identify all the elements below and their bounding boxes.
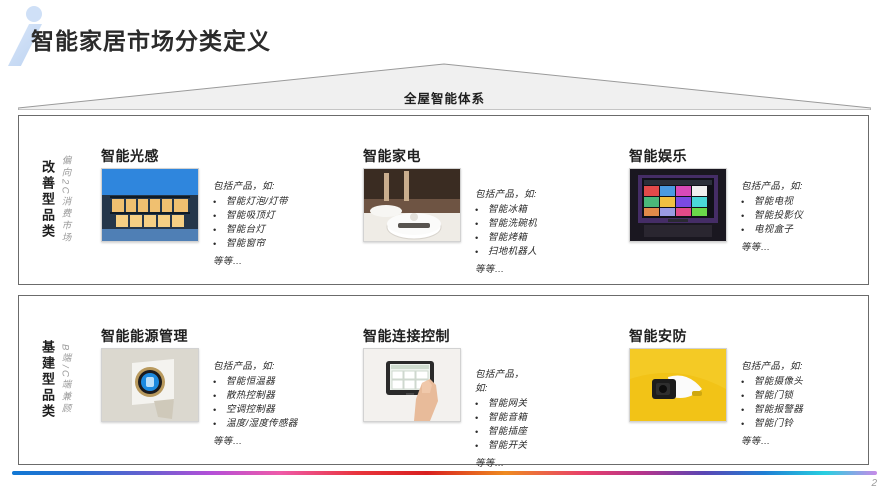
product-items: 智能灯泡/灯带 智能吸顶灯 智能台灯 智能窗帘 xyxy=(213,195,288,251)
section-label-main: 改善型品类 xyxy=(41,160,54,240)
list-item: 智能门铃 xyxy=(741,417,803,431)
list-item: 智能冰箱 xyxy=(475,203,537,217)
card-title: 智能光感 xyxy=(101,146,159,166)
card-title: 智能家电 xyxy=(363,146,421,166)
section-label-sub: 偏向2C消费市场 xyxy=(60,155,70,244)
card-product-list: 包括产品，如: 智能摄像头 智能门锁 智能报警器 智能门铃 等等… xyxy=(741,358,803,447)
product-list-lead: 包括产品，如: xyxy=(213,358,298,372)
list-item: 空调控制器 xyxy=(213,403,298,417)
product-list-lead: 包括产品，如: xyxy=(741,178,803,192)
card-product-list: 包括产品，如: 智能灯泡/灯带 智能吸顶灯 智能台灯 智能窗帘 等等… xyxy=(213,178,288,267)
smart-entertainment-photo xyxy=(629,168,727,242)
product-list-tail: 等等… xyxy=(213,433,298,447)
card-product-list: 包括产品，如: 智能冰箱 智能洗碗机 智能烤箱 扫地机器人 等等… xyxy=(475,186,537,275)
section-vertical-label-group: 基建型品类 B端/C端兼顾 xyxy=(41,296,70,464)
list-item: 智能恒温器 xyxy=(213,375,298,389)
list-item: 智能吸顶灯 xyxy=(213,209,288,223)
roof-banner-label: 全屋智能体系 xyxy=(18,88,871,107)
list-item: 电视盒子 xyxy=(741,223,803,237)
product-items: 智能恒温器 散热控制器 空调控制器 温度/湿度传感器 xyxy=(213,375,298,431)
product-list-tail: 等等… xyxy=(475,455,527,469)
list-item: 智能门锁 xyxy=(741,389,803,403)
product-items: 智能电视 智能投影仪 电视盒子 xyxy=(741,195,803,237)
product-list-lead: 包括产品，如: xyxy=(475,366,527,394)
list-item: 智能台灯 xyxy=(213,223,288,237)
card-title: 智能能源管理 xyxy=(101,326,188,346)
page-title: 智能家居市场分类定义 xyxy=(31,22,271,56)
list-item: 智能窗帘 xyxy=(213,237,288,251)
list-item: 智能电视 xyxy=(741,195,803,209)
section-improvement-category: 改善型品类 偏向2C消费市场 智能光感 xyxy=(18,115,869,285)
list-item: 温度/湿度传感器 xyxy=(213,417,298,431)
roof-banner: 全屋智能体系 xyxy=(18,62,871,110)
product-list-tail: 等等… xyxy=(741,433,803,447)
list-item: 智能摄像头 xyxy=(741,375,803,389)
card-title: 智能娱乐 xyxy=(629,146,687,166)
list-item: 智能投影仪 xyxy=(741,209,803,223)
letter-i-dot-icon xyxy=(26,6,42,22)
product-list-tail: 等等… xyxy=(475,261,537,275)
page-number: 2 xyxy=(871,478,877,489)
product-list-lead: 包括产品，如: xyxy=(741,358,803,372)
list-item: 散热控制器 xyxy=(213,389,298,403)
smart-energy-photo xyxy=(101,348,199,422)
rainbow-divider xyxy=(12,471,877,475)
smart-connection-photo xyxy=(363,348,461,422)
product-items: 智能冰箱 智能洗碗机 智能烤箱 扫地机器人 xyxy=(475,203,537,259)
card-product-list: 包括产品，如: 智能电视 智能投影仪 电视盒子 等等… xyxy=(741,178,803,253)
smart-lighting-photo xyxy=(101,168,199,242)
card-product-list: 包括产品，如: 智能网关 智能音箱 智能插座 智能开关 等等… xyxy=(475,366,527,469)
product-list-lead: 包括产品，如: xyxy=(475,186,537,200)
list-item: 扫地机器人 xyxy=(475,245,537,259)
product-list-tail: 等等… xyxy=(213,253,288,267)
card-title: 智能连接控制 xyxy=(363,326,450,346)
card-product-list: 包括产品，如: 智能恒温器 散热控制器 空调控制器 温度/湿度传感器 等等… xyxy=(213,358,298,447)
list-item: 智能灯泡/灯带 xyxy=(213,195,288,209)
list-item: 智能网关 xyxy=(475,397,527,411)
section-label-sub: B端/C端兼顾 xyxy=(60,344,70,415)
product-list-tail: 等等… xyxy=(741,239,803,253)
smart-appliance-photo xyxy=(363,168,461,242)
smart-security-photo xyxy=(629,348,727,422)
section-label-main: 基建型品类 xyxy=(41,340,54,420)
list-item: 智能洗碗机 xyxy=(475,217,537,231)
list-item: 智能开关 xyxy=(475,439,527,453)
list-item: 智能插座 xyxy=(475,425,527,439)
product-items: 智能摄像头 智能门锁 智能报警器 智能门铃 xyxy=(741,375,803,431)
list-item: 智能音箱 xyxy=(475,411,527,425)
product-list-lead: 包括产品，如: xyxy=(213,178,288,192)
product-items: 智能网关 智能音箱 智能插座 智能开关 xyxy=(475,397,527,453)
section-infrastructure-category: 基建型品类 B端/C端兼顾 智能能源管理 包括产品，如: 智能恒温器 散热控制器… xyxy=(18,295,869,465)
card-title: 智能安防 xyxy=(629,326,687,346)
list-item: 智能烤箱 xyxy=(475,231,537,245)
list-item: 智能报警器 xyxy=(741,403,803,417)
section-vertical-label-group: 改善型品类 偏向2C消费市场 xyxy=(41,116,70,284)
